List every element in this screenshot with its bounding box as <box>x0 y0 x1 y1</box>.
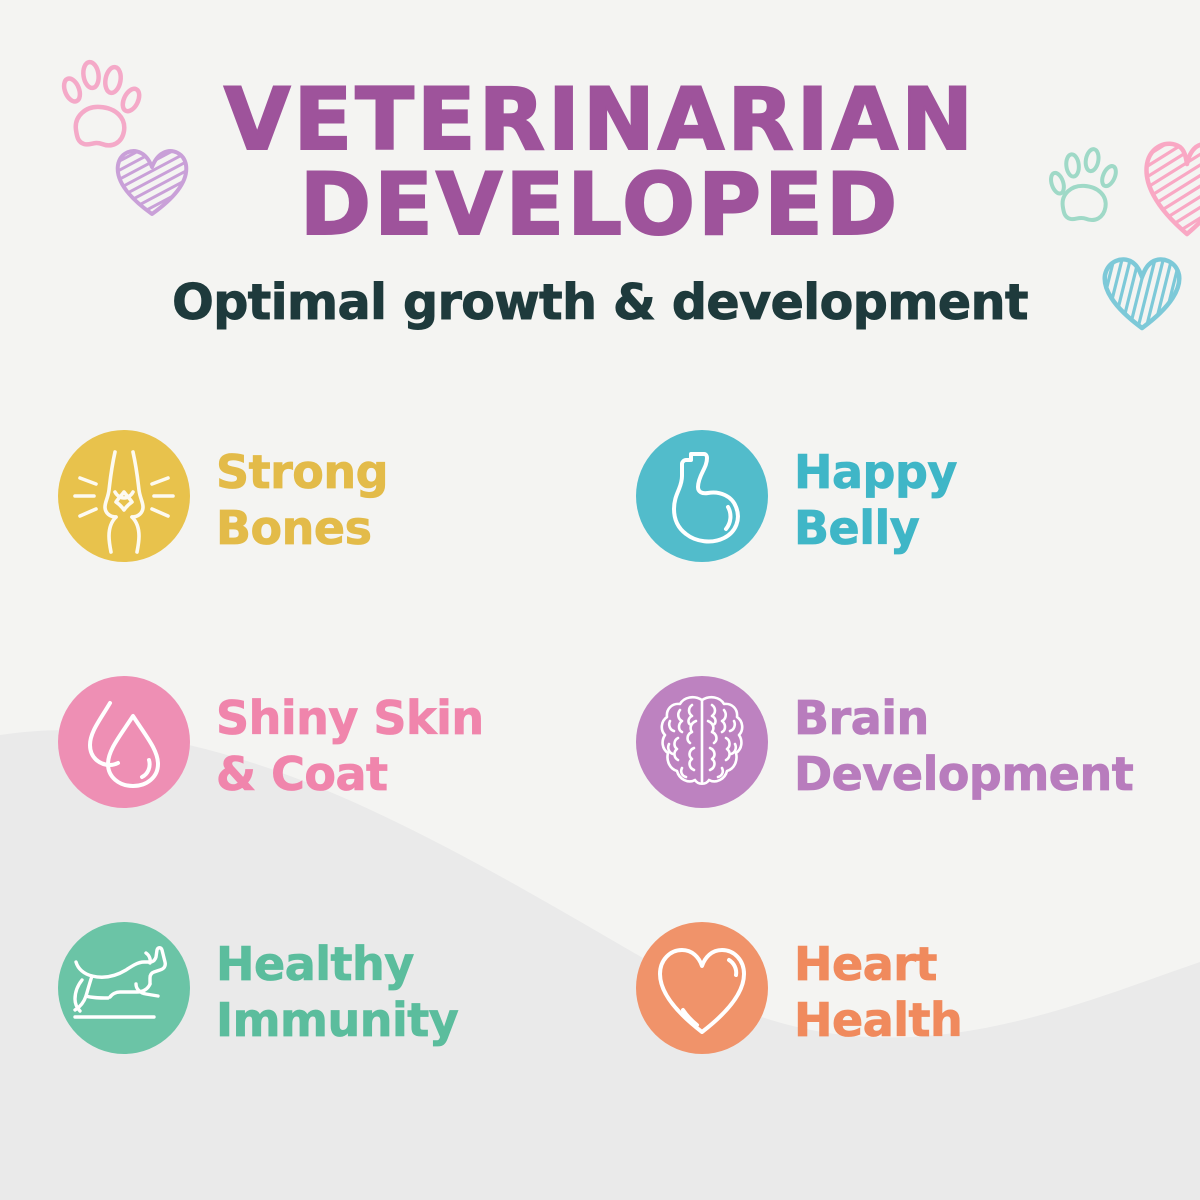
benefit-item-healthy-immunity: Healthy Immunity <box>58 922 618 1168</box>
water-droplets-icon <box>58 676 190 808</box>
page-title: VETERINARIANDEVELOPED <box>0 78 1200 248</box>
brain-icon <box>636 676 768 808</box>
benefit-item-strong-bones: Strong Bones <box>58 430 618 676</box>
page-title-line-2: DEVELOPED <box>300 155 900 255</box>
promotional-graphic: VETERINARIANDEVELOPED Optimal growth & d… <box>0 0 1200 1200</box>
stomach-icon <box>636 430 768 562</box>
benefit-item-happy-belly: Happy Belly <box>636 430 1196 676</box>
benefit-label-brain-development: Brain Development <box>794 676 1133 802</box>
bone-joint-icon <box>58 430 190 562</box>
benefit-label-shiny-skin-coat: Shiny Skin & Coat <box>216 676 484 802</box>
benefit-item-heart-health: Heart Health <box>636 922 1196 1168</box>
running-dog-icon <box>58 922 190 1054</box>
benefit-label-happy-belly: Happy Belly <box>794 430 957 556</box>
benefit-item-shiny-skin-coat: Shiny Skin & Coat <box>58 676 618 922</box>
heart-icon <box>636 922 768 1054</box>
benefits-grid: Strong Bones Happy Belly <box>0 430 1200 1168</box>
benefit-label-healthy-immunity: Healthy Immunity <box>216 922 458 1048</box>
benefit-label-heart-health: Heart Health <box>794 922 962 1048</box>
heading-block: VETERINARIANDEVELOPED Optimal growth & d… <box>0 78 1200 331</box>
benefit-item-brain-development: Brain Development <box>636 676 1196 922</box>
benefit-label-strong-bones: Strong Bones <box>216 430 388 556</box>
page-subtitle: Optimal growth & development <box>0 274 1200 331</box>
